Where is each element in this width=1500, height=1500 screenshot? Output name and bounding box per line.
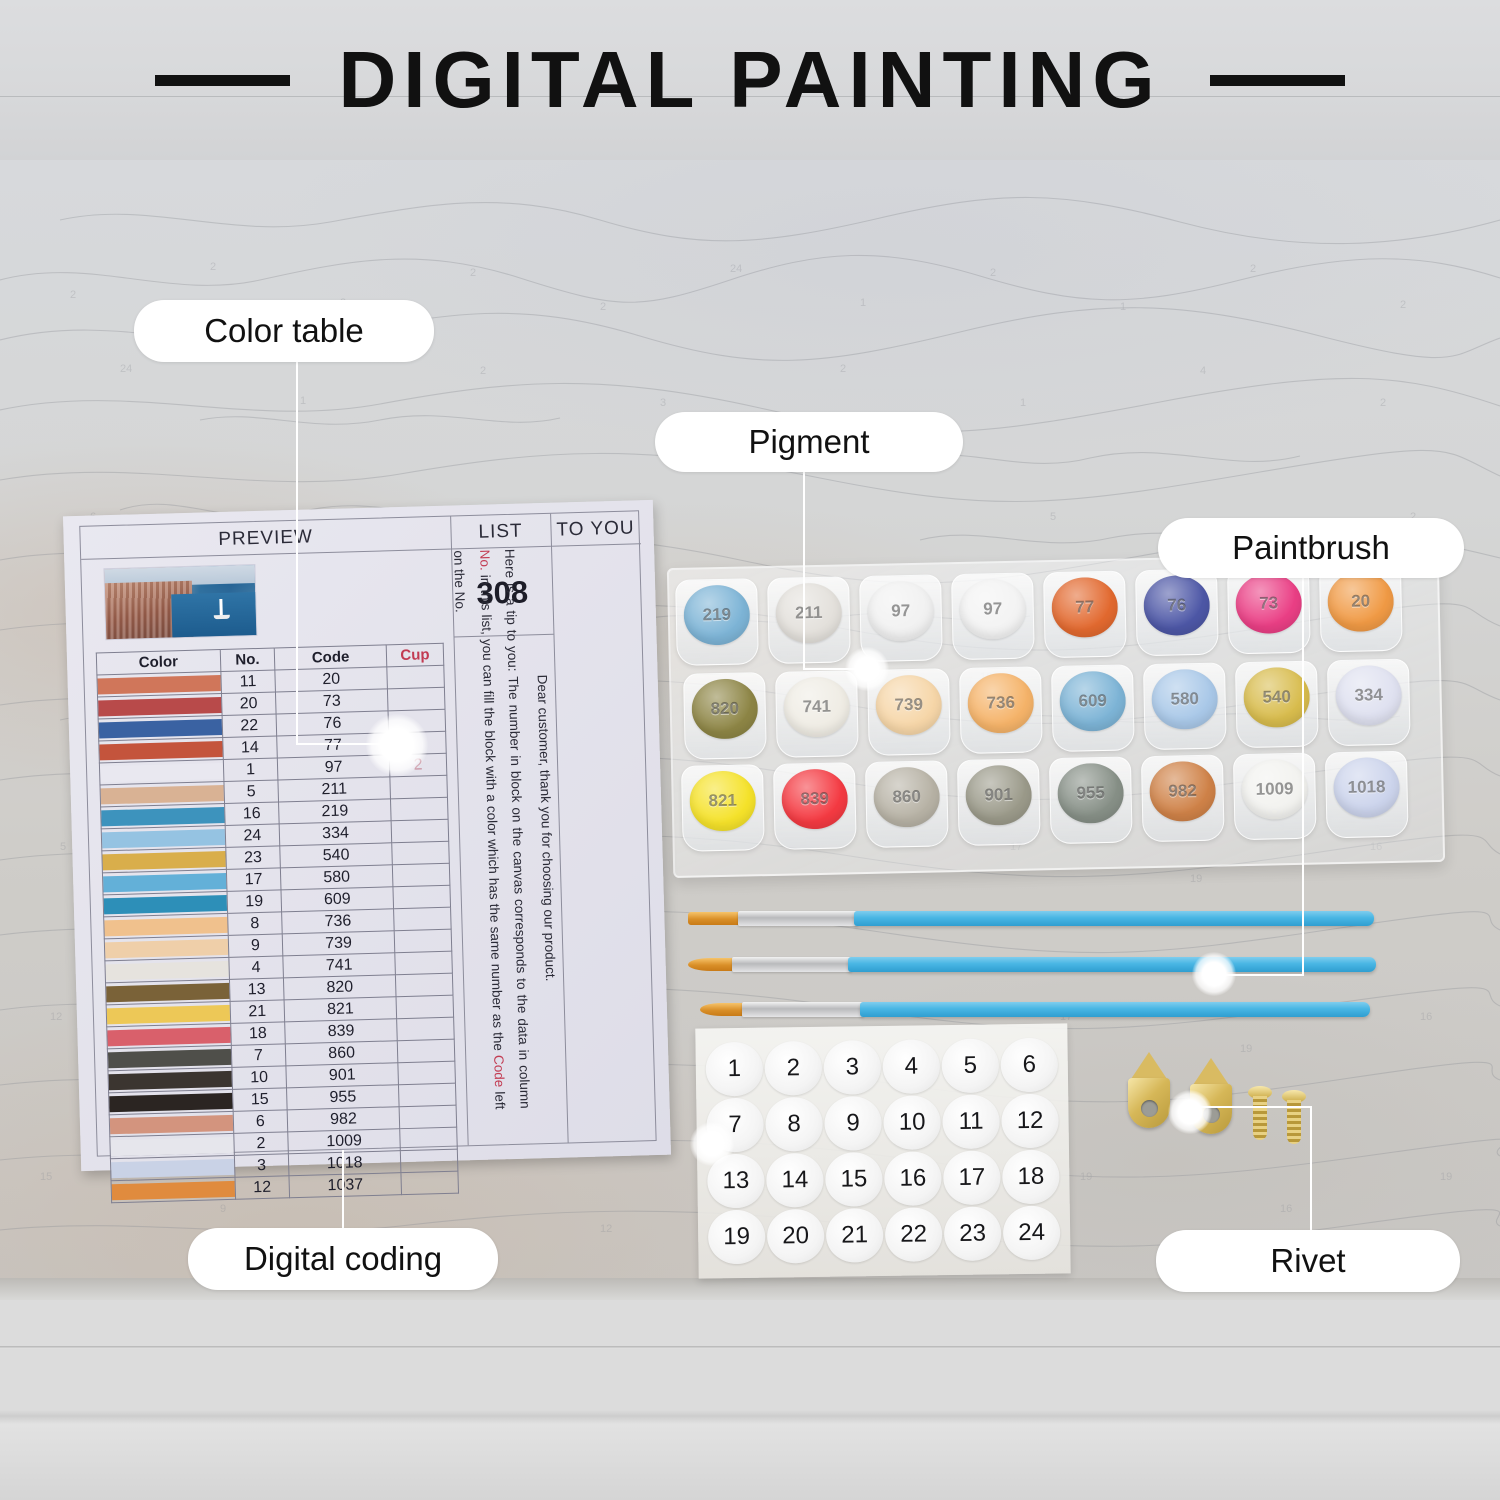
paint-pot-code: 211 [795, 603, 823, 624]
svg-text:12: 12 [600, 1223, 612, 1235]
row-no: 12 [235, 1176, 290, 1200]
svg-text:16: 16 [1280, 1203, 1292, 1215]
instruction-part-2: in this list, you can fill the block wit… [477, 570, 506, 1055]
instruction-code-mark: Code [491, 1055, 507, 1088]
svg-text:19: 19 [1080, 1171, 1092, 1183]
thumb-sea [171, 592, 256, 638]
row-code: 73 [276, 689, 388, 714]
row-code: 1037 [289, 1173, 401, 1198]
row-code: 580 [281, 865, 393, 890]
row-cup [395, 973, 453, 997]
pigment-tray[interactable]: 2192119797777673208207417397366095805403… [667, 552, 1445, 878]
svg-text:15: 15 [40, 1171, 52, 1183]
callout-rivet[interactable]: Rivet [1156, 1230, 1460, 1292]
instruction-body: Here is a tip to you: The number in bloc… [446, 549, 539, 1111]
preview-thumbnail-image [103, 564, 257, 640]
row-no: 18 [230, 1022, 285, 1046]
callout-digital-coding[interactable]: Digital coding [188, 1228, 498, 1290]
svg-text:2: 2 [1250, 263, 1256, 275]
row-cup [387, 665, 445, 689]
row-no: 8 [227, 912, 282, 936]
paint-pot-lid: 20 [1327, 571, 1394, 632]
number-sticker[interactable]: 11 [942, 1094, 1000, 1149]
sticker-grid: 123456789101112131415161718192021222324 [705, 1038, 1060, 1265]
row-no: 9 [228, 934, 283, 958]
paint-pot-code: 955 [1076, 783, 1105, 804]
paint-pot[interactable]: 736 [959, 666, 1043, 754]
paint-pot[interactable]: 77 [1043, 571, 1127, 659]
title-dash-right-icon [1210, 75, 1345, 86]
title-dash-left-icon [155, 75, 290, 86]
row-code: 741 [283, 953, 395, 978]
svg-text:1: 1 [300, 395, 306, 407]
paint-pot[interactable]: 820 [683, 672, 767, 760]
paint-pot[interactable]: 1018 [1325, 751, 1409, 839]
number-sticker[interactable]: 20 [767, 1209, 825, 1264]
paint-pot-lid: 839 [781, 768, 848, 829]
callout-color-table[interactable]: Color table [134, 300, 434, 362]
paint-pot-lid: 955 [1057, 763, 1124, 824]
row-no: 21 [230, 1000, 285, 1024]
svg-text:5: 5 [1050, 511, 1056, 523]
row-cup [390, 775, 448, 799]
number-sticker[interactable]: 2 [764, 1041, 822, 1096]
brush-bristles-1 [688, 912, 740, 925]
col-header-code: Code [274, 645, 386, 670]
svg-text:4: 4 [1200, 365, 1206, 377]
paint-pot-code: 20 [1351, 591, 1370, 611]
number-sticker[interactable]: 16 [884, 1151, 942, 1206]
svg-text:24: 24 [120, 363, 132, 375]
row-cup [399, 1105, 457, 1129]
row-no: 4 [228, 956, 283, 980]
svg-text:12: 12 [50, 1011, 62, 1023]
paint-pot-lid: 77 [1051, 577, 1118, 638]
paint-pot-code: 97 [891, 601, 910, 621]
svg-text:1: 1 [1120, 301, 1126, 313]
svg-text:19: 19 [1440, 1171, 1452, 1183]
row-cup [401, 1171, 459, 1195]
number-sticker[interactable]: 19 [708, 1210, 766, 1265]
number-sticker[interactable]: 22 [885, 1207, 943, 1262]
row-cup [392, 863, 450, 887]
paint-pot[interactable]: 901 [957, 758, 1041, 846]
row-cup [393, 907, 451, 931]
paint-pot[interactable]: 982 [1141, 755, 1225, 843]
row-cup [394, 929, 452, 953]
paint-pot[interactable]: 580 [1143, 662, 1227, 750]
number-sticker[interactable]: 9 [824, 1096, 882, 1151]
page-header: DIGITAL PAINTING [0, 0, 1500, 160]
paint-pot-lid: 821 [689, 770, 756, 831]
row-no: 16 [224, 802, 279, 826]
paint-pot-lid: 1009 [1241, 759, 1308, 820]
paint-pot-code: 736 [986, 693, 1015, 714]
sheet-rule-toyou [551, 543, 641, 547]
row-code: 820 [284, 975, 396, 1000]
table-surface [0, 1300, 1500, 1500]
row-no: 7 [231, 1044, 286, 1068]
row-code: 860 [286, 1041, 398, 1066]
hanger-bracket-1[interactable] [1128, 1052, 1172, 1132]
hanger-plate-1 [1128, 1078, 1170, 1128]
screw-1[interactable] [1248, 1086, 1274, 1146]
paint-pot-lid: 97 [959, 579, 1026, 640]
row-cup [396, 995, 454, 1019]
svg-text:2: 2 [1380, 397, 1386, 409]
row-no: 23 [225, 846, 280, 870]
paint-pot-lid: 73 [1235, 573, 1302, 634]
row-swatch [111, 1177, 235, 1202]
row-cup [397, 1039, 455, 1063]
row-code: 211 [278, 777, 390, 802]
brush-ferrule-3 [742, 1002, 864, 1017]
paint-pot[interactable]: 97 [951, 572, 1035, 660]
row-cup [390, 797, 448, 821]
paint-pot-code: 860 [892, 787, 921, 808]
instruction-no-mark: No. [477, 549, 493, 570]
brush-ferrule-1 [738, 911, 858, 926]
row-code: 540 [280, 843, 392, 868]
svg-text:19: 19 [1190, 873, 1202, 885]
paint-pot[interactable]: 334 [1327, 659, 1411, 747]
brush-handle-2 [848, 957, 1376, 972]
paint-pot-code: 821 [708, 791, 737, 812]
paint-pot-code: 901 [984, 785, 1013, 806]
row-cup [398, 1083, 456, 1107]
page-title: DIGITAL PAINTING [338, 40, 1161, 120]
row-cup [400, 1127, 458, 1151]
number-sticker[interactable]: 4 [882, 1039, 940, 1094]
svg-text:2: 2 [210, 261, 216, 273]
svg-text:19: 19 [1240, 1043, 1252, 1055]
paint-pot-lid: 540 [1243, 667, 1310, 728]
number-sticker[interactable]: 17 [943, 1150, 1001, 1205]
svg-text:16: 16 [1420, 1011, 1432, 1023]
paint-pot-code: 219 [702, 605, 731, 626]
row-code: 334 [279, 821, 391, 846]
col-header-no: No. [220, 648, 275, 672]
paint-pot-code: 76 [1167, 595, 1186, 615]
paint-pot-lid: 609 [1059, 671, 1126, 732]
paint-pot[interactable]: 821 [681, 764, 765, 852]
paint-pot[interactable]: 741 [775, 670, 859, 758]
paint-pot[interactable]: 1009 [1233, 753, 1317, 841]
row-cup [387, 687, 445, 711]
number-sticker[interactable]: 8 [765, 1097, 823, 1152]
paint-pot[interactable]: 839 [773, 762, 857, 850]
svg-text:3: 3 [660, 397, 666, 409]
row-cup [391, 819, 449, 843]
hotspot-pigment [845, 647, 889, 691]
row-code: 901 [286, 1063, 398, 1088]
paint-pot-code: 77 [1075, 597, 1094, 617]
paint-pot-lid: 820 [691, 678, 758, 739]
brush-ferrule-2 [732, 957, 852, 972]
screw-2[interactable] [1282, 1090, 1308, 1150]
row-no: 15 [232, 1088, 287, 1112]
paint-pot-code: 982 [1168, 781, 1197, 802]
brush-bristles-2 [688, 958, 734, 971]
row-no: 5 [224, 780, 279, 804]
paint-pot-lid: 97 [867, 581, 934, 642]
paint-pot-lid: 580 [1151, 669, 1218, 730]
paint-pot-lid: 334 [1335, 665, 1402, 726]
number-sticker-sheet[interactable]: 123456789101112131415161718192021222324 [695, 1023, 1070, 1278]
color-table-sheet[interactable]: PREVIEW LIST TO YOU 308 Color No. Code C… [63, 500, 671, 1171]
row-no: 1 [223, 758, 278, 782]
hanger-hole-1 [1141, 1100, 1158, 1117]
number-sticker[interactable]: 23 [944, 1206, 1002, 1261]
row-code: 1018 [289, 1151, 401, 1176]
callout-paintbrush[interactable]: Paintbrush [1158, 518, 1464, 578]
hotspot-color-table [366, 714, 428, 776]
leader-paintbrush [1302, 578, 1304, 976]
row-code: 955 [287, 1085, 399, 1110]
paint-pot[interactable]: 609 [1051, 664, 1135, 752]
leader-pigment [803, 470, 805, 670]
row-cup [398, 1061, 456, 1085]
row-no: 2 [233, 1132, 288, 1156]
paint-pot-lid: 219 [683, 584, 750, 645]
number-sticker[interactable]: 3 [823, 1040, 881, 1095]
number-sticker[interactable]: 24 [1003, 1206, 1061, 1261]
row-code: 982 [287, 1107, 399, 1132]
row-code: 219 [279, 799, 391, 824]
row-code: 739 [282, 931, 394, 956]
paint-pot-code: 609 [1078, 691, 1107, 712]
svg-text:1: 1 [1020, 397, 1026, 409]
number-sticker[interactable]: 1 [705, 1042, 763, 1097]
brush-handle-1 [854, 911, 1374, 926]
number-sticker[interactable]: 10 [883, 1095, 941, 1150]
row-code: 839 [285, 1019, 397, 1044]
paint-pot-code: 540 [1262, 687, 1291, 708]
row-cup [395, 951, 453, 975]
paintbrush-3[interactable] [700, 995, 1372, 1025]
paint-pot[interactable]: 540 [1235, 661, 1319, 749]
leader-rivet [1310, 1106, 1312, 1242]
paint-pot[interactable]: 955 [1049, 756, 1133, 844]
sheet-header-list: LIST [450, 520, 551, 545]
row-cup [393, 885, 451, 909]
paint-pot-lid: 211 [775, 582, 842, 643]
paint-pot-code: 97 [983, 599, 1002, 619]
number-sticker[interactable]: 18 [1002, 1150, 1060, 1205]
hotspot-rivet [1168, 1090, 1212, 1134]
row-cup [400, 1149, 458, 1173]
paint-pot-lid: 982 [1149, 761, 1216, 822]
brush-handle-3 [860, 1002, 1370, 1017]
paint-pot-code: 580 [1170, 689, 1199, 710]
row-no: 17 [226, 868, 281, 892]
row-no: 20 [221, 692, 276, 716]
paint-pot[interactable]: 860 [865, 760, 949, 848]
hotspot-digital-coding [690, 1122, 734, 1166]
paint-pot[interactable]: 76 [1135, 569, 1219, 657]
row-code: 1009 [288, 1129, 400, 1154]
paintbrush-1[interactable] [688, 905, 1378, 935]
color-sheet-border: PREVIEW LIST TO YOU 308 Color No. Code C… [79, 510, 656, 1156]
svg-text:9: 9 [220, 1203, 226, 1215]
leader-color-table [296, 355, 298, 745]
paint-pot-code: 739 [894, 695, 923, 716]
number-sticker[interactable]: 14 [766, 1153, 824, 1208]
paint-pot-code: 741 [802, 697, 831, 718]
row-no: 10 [231, 1066, 286, 1090]
svg-text:2: 2 [480, 365, 486, 377]
row-code: 20 [275, 667, 387, 692]
screw-shaft-1 [1253, 1096, 1267, 1140]
row-no: 11 [220, 670, 275, 694]
paint-pot-code: 1018 [1347, 777, 1385, 798]
paint-pot-code: 1009 [1255, 779, 1293, 800]
number-sticker[interactable]: 12 [1001, 1094, 1059, 1149]
svg-text:24: 24 [730, 263, 742, 275]
paint-pot[interactable]: 219 [675, 578, 759, 666]
callout-pigment[interactable]: Pigment [655, 412, 963, 472]
paint-pot-code: 839 [800, 789, 829, 810]
paint-pot-lid: 76 [1143, 575, 1210, 636]
row-no: 24 [225, 824, 280, 848]
svg-text:2: 2 [840, 363, 846, 375]
number-sticker[interactable]: 5 [941, 1038, 999, 1093]
number-sticker[interactable]: 21 [826, 1208, 884, 1263]
svg-text:2: 2 [470, 267, 476, 279]
sheet-header-toyou: TO YOU [550, 517, 641, 542]
paint-pot-lid: 1018 [1333, 757, 1400, 818]
paint-pot[interactable]: 211 [767, 576, 851, 664]
number-sticker[interactable]: 15 [825, 1152, 883, 1207]
brush-bristles-3 [700, 1003, 744, 1016]
svg-text:2: 2 [600, 301, 606, 313]
paint-pot-lid: 901 [965, 765, 1032, 826]
row-code: 736 [282, 909, 394, 934]
row-no: 6 [233, 1110, 288, 1134]
instruction-text: Dear customer, thank you for choosing ou… [439, 548, 567, 1111]
svg-text:1: 1 [860, 297, 866, 309]
row-cup [392, 841, 450, 865]
paint-pot[interactable]: 73 [1227, 567, 1311, 655]
row-no: 14 [222, 736, 277, 760]
row-code: 821 [284, 997, 396, 1022]
paint-pot-lid: 860 [873, 766, 940, 827]
svg-text:2: 2 [1400, 299, 1406, 311]
paint-pot-lid: 736 [967, 672, 1034, 733]
row-no: 13 [229, 978, 284, 1002]
number-sticker[interactable]: 6 [1000, 1038, 1058, 1093]
row-no: 19 [227, 890, 282, 914]
paint-pot-code: 820 [710, 699, 739, 720]
row-no: 3 [234, 1154, 289, 1178]
row-no: 22 [222, 714, 277, 738]
col-header-cup: Cup [386, 643, 444, 667]
thumb-sailboat-icon [219, 599, 222, 616]
paint-pot-code: 334 [1354, 685, 1383, 706]
svg-text:2: 2 [990, 267, 996, 279]
paint-pot-lid: 739 [875, 674, 942, 735]
svg-text:2: 2 [70, 289, 76, 301]
row-cup [397, 1017, 455, 1041]
svg-text:5: 5 [60, 841, 66, 853]
row-code: 609 [281, 887, 393, 912]
paint-pot-code: 73 [1259, 593, 1278, 613]
hotspot-paintbrush [1192, 952, 1236, 996]
paint-pot-lid: 741 [783, 676, 850, 737]
